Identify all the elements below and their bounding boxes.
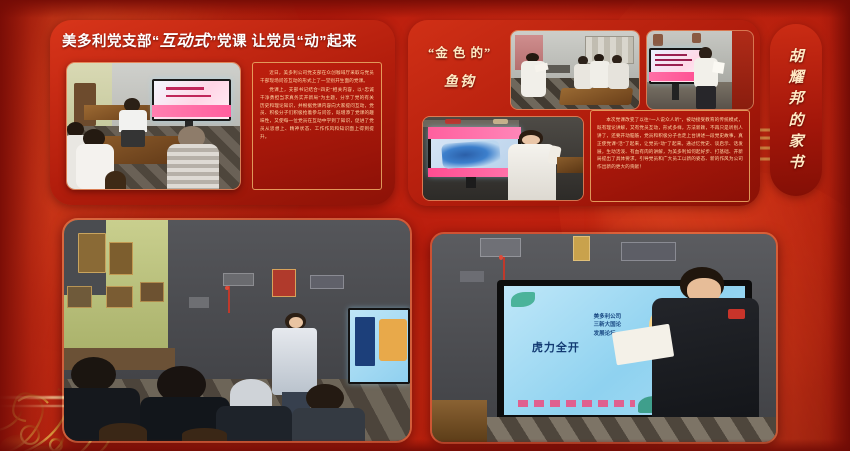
poster-edge-right bbox=[820, 0, 850, 451]
slide-sub-line1: 美多利公司 bbox=[594, 313, 656, 321]
vertical-title-char: 胡 bbox=[788, 47, 803, 67]
title-quote2-close: ” bbox=[319, 34, 327, 50]
section-title-line2: 鱼钩 bbox=[444, 71, 518, 91]
poster-edge-top bbox=[0, 0, 850, 18]
article-paragraph: 本次党课改变了以往“一人说众人听”，被动接受教育的传统模式，既有理论讲解，又有党… bbox=[597, 116, 743, 171]
title-quote-open: “ bbox=[152, 34, 160, 50]
article-body-left: 近日，美多利公司党支部在众创咖啡厅采取与党员干部现场问答互动的形式上了一堂别开生… bbox=[252, 62, 382, 190]
title-segment-3: 让党员 bbox=[252, 34, 297, 50]
photo-lecture-classroom bbox=[66, 62, 241, 190]
vertical-title-char: 家 bbox=[788, 132, 803, 152]
photo-audience-forum bbox=[62, 218, 412, 443]
vertical-title-char: 邦 bbox=[788, 89, 803, 109]
section-title-golden-fishhook: “金 色 的” 鱼钩 bbox=[428, 42, 518, 91]
title-brush-word-1: 互动式 bbox=[160, 33, 210, 50]
title-quote-close: ” bbox=[209, 34, 217, 50]
title-segment-2: 党课 bbox=[217, 34, 247, 50]
top-left-panel: 美多利党支部“互动式”党课 让党员“动”起来 bbox=[50, 20, 395, 205]
slide-headline: 虎力全开 bbox=[532, 343, 580, 355]
poster-canvas: 美多利党支部“互动式”党课 让党员“动”起来 bbox=[0, 0, 850, 451]
vertical-title-char: 的 bbox=[788, 111, 803, 131]
title-brush-word-2: 动 bbox=[304, 34, 319, 50]
top-right-panel: “金 色 的” 鱼钩 bbox=[408, 20, 760, 206]
article-paragraph: 党课上，支部书记结合“四史”相关内容，以“忠诚干净勇担当求真务实开新局”为主题，… bbox=[260, 86, 374, 141]
photo-presenter-at-screen bbox=[646, 30, 754, 110]
vertical-title-hu-yaobang: 胡 耀 邦 的 家 书 bbox=[770, 24, 822, 196]
vertical-title-char: 书 bbox=[788, 153, 803, 173]
article-paragraph: 近日，美多利公司党支部在众创咖啡厅采取与党员干部现场问答互动的形式上了一堂别开生… bbox=[260, 69, 374, 85]
title-segment-1: 美多利党支部 bbox=[62, 34, 152, 50]
article-body-right: 本次党课改变了以往“一人说众人听”，被动接受教育的传统模式，既有理论讲解，又有党… bbox=[590, 110, 750, 202]
photo-leader-speech: 虎力全开 美多利公司 三新大国论 发展论坛 bbox=[430, 232, 778, 444]
headline-bar: 美多利党支部“互动式”党课 让党员“动”起来 bbox=[50, 20, 395, 58]
poster-edge-left bbox=[0, 0, 52, 451]
title-segment-4: 起来 bbox=[327, 34, 357, 50]
vertical-title-char: 耀 bbox=[788, 68, 803, 88]
photo-group-storytelling bbox=[510, 30, 640, 110]
section-title-line1: “金 色 的” bbox=[428, 42, 518, 61]
photo-child-presenter bbox=[422, 116, 584, 201]
page-title: 美多利党支部“互动式”党课 让党员“动”起来 bbox=[62, 27, 357, 51]
